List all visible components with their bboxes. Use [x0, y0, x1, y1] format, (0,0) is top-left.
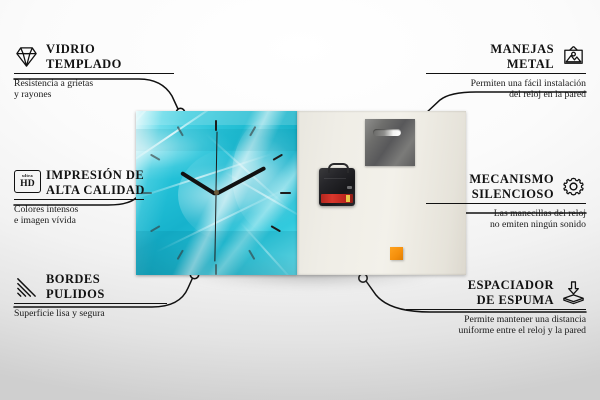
product-image [136, 111, 466, 276]
callout-title-line2: PULIDOS [46, 287, 105, 301]
callout-rule [14, 303, 167, 304]
callout-title-line1: BORDES [46, 272, 100, 286]
movement-hanger-loop [328, 163, 349, 173]
arrow-onto-foam-layer-icon [561, 280, 586, 305]
callout-rule [14, 73, 174, 74]
callout-title-line2: DE ESPUMA [477, 293, 554, 307]
callout-desc-line1: Permite mantener una distancia [464, 314, 586, 325]
callout-title-line2: ALTA CALIDAD [46, 183, 145, 197]
picture-frame-hanging-icon [561, 44, 586, 69]
callout-impresion-alta-calidad: ultra HD IMPRESIÓN DE ALTA CALIDAD Color… [14, 168, 174, 227]
battery-strip [321, 194, 353, 203]
callout-desc-line2: e imagen vívida [14, 215, 76, 226]
callout-espaciador-de-espuma: ESPACIADOR DE ESPUMA Permite mantener un… [406, 278, 586, 337]
callout-rule [406, 309, 586, 310]
callout-desc-line2: no emiten ningún sonido [490, 219, 586, 230]
callout-rule [14, 199, 144, 200]
callout-desc-line2: del reloj en la pared [509, 89, 586, 100]
callout-rule [426, 73, 586, 74]
diamond-icon [14, 44, 39, 69]
infographic-canvas: VIDRIO TEMPLADO Resistencia a grietas y … [0, 0, 600, 400]
movement-seam [324, 178, 346, 179]
metal-hanger-bracket [365, 119, 415, 166]
callout-rule [426, 203, 586, 204]
callout-desc-line1: Resistencia a grietas [14, 78, 93, 89]
callout-vidrio-templado: VIDRIO TEMPLADO Resistencia a grietas y … [14, 42, 174, 101]
callout-desc-line1: Superficie lisa y segura [14, 308, 105, 319]
callout-title-line2: TEMPLADO [46, 57, 122, 71]
ultra-hd-icon-large-text: HD [20, 179, 35, 189]
callout-desc-line2: uniforme entre el reloj y la pared [459, 325, 587, 336]
callout-manejas-metal: MANEJAS METAL Permiten una fácil instala… [426, 42, 586, 101]
callout-mecanismo-silencioso: MECANISMO SILENCIOSO Las manecillas del … [426, 172, 586, 231]
callout-title-line1: MECANISMO [469, 172, 554, 186]
movement-set-dial [347, 186, 352, 189]
callout-title-line1: IMPRESIÓN DE [46, 168, 144, 182]
callout-title-line1: ESPACIADOR [468, 278, 554, 292]
callout-title-line2: METAL [507, 57, 554, 71]
callout-desc-line1: Colores intensos [14, 204, 78, 215]
ultra-hd-icon: ultra HD [14, 170, 39, 195]
callout-title-line2: SILENCIOSO [472, 187, 554, 201]
foam-spacer [390, 247, 403, 260]
quartz-movement-box [319, 168, 355, 206]
callout-desc-line2: y rayones [14, 89, 51, 100]
callout-bordes-pulidos: BORDES PULIDOS Superficie lisa y segura [14, 272, 174, 319]
callout-desc-line1: Las manecillas del reloj [494, 208, 586, 219]
callout-desc-line1: Permiten una fácil instalación [471, 78, 586, 89]
gear-icon [561, 174, 586, 199]
callout-title-line1: MANEJAS [490, 42, 554, 56]
bracket-slot [373, 129, 401, 136]
callout-title-line1: VIDRIO [46, 42, 95, 56]
polished-edges-icon [14, 274, 39, 299]
clock-center-hub [214, 190, 219, 195]
